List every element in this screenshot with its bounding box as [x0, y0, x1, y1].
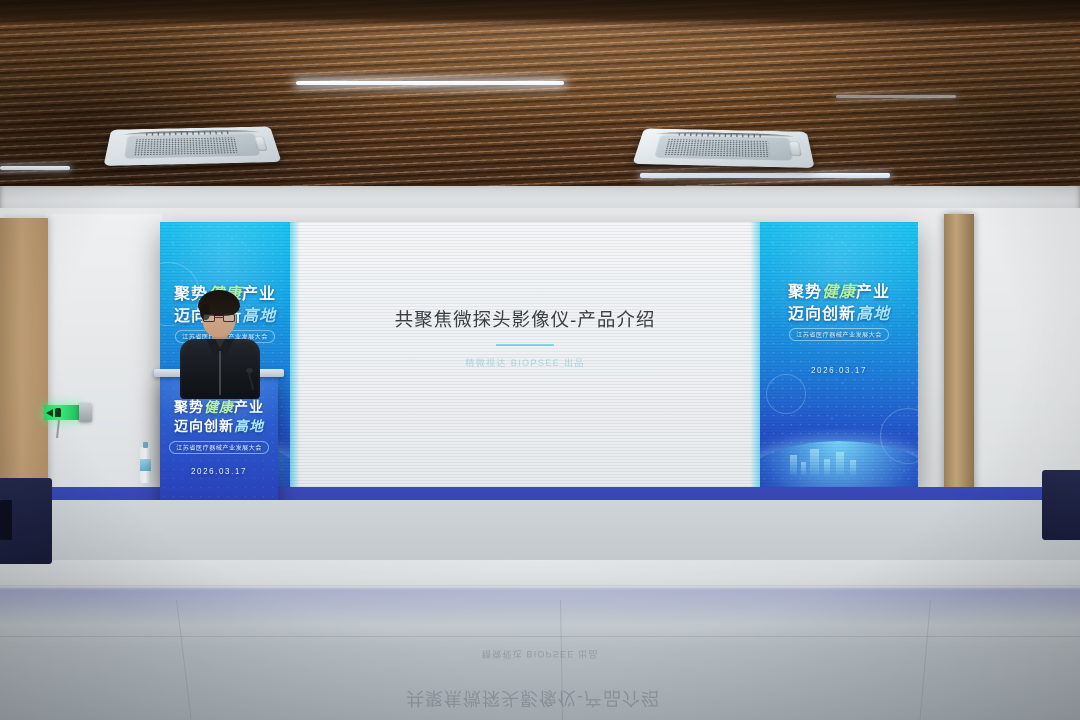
floor-tile-seam — [0, 585, 1080, 586]
glow-arc — [760, 441, 918, 487]
slide-left-gradient — [290, 222, 300, 487]
podium-banner-date: 2026.03.17 — [160, 467, 278, 476]
led-texture — [760, 222, 918, 487]
skyline-building — [836, 452, 844, 475]
slide-divider — [496, 344, 554, 346]
ac-cassette-unit-left — [103, 127, 281, 166]
ac-cassette-unit-right — [632, 128, 814, 168]
decor-ring — [880, 408, 918, 464]
conference-hall-photo: 聚势健康产业 迈向创新高地 江苏省医疗器械产业发展大会 2026.03.17 — [0, 0, 1080, 720]
skyline-building — [824, 459, 830, 475]
glasses-bridge — [215, 317, 223, 318]
led-right-banner-line2: 迈向创新高地 — [760, 300, 918, 324]
floor-reflected-subtitle: 精微视达 BIOPSEE 出品 — [482, 648, 599, 661]
ceiling-light-strip-3 — [0, 166, 70, 170]
glasses-left-lens — [203, 314, 215, 322]
slide-subtitle: 精微视达 BIOPSEE 出品 — [290, 356, 760, 369]
ceiling-light-strip-4 — [836, 95, 956, 98]
left-wood-wall-panel — [0, 218, 48, 510]
podium-banner-line2: 迈向创新高地 — [160, 416, 278, 436]
emergency-exit-sign — [44, 405, 80, 420]
floor-reflected-title: 共聚焦微探头影像仪-产品介绍 — [406, 686, 660, 712]
slide-right-gradient — [750, 222, 760, 487]
running-man-icon — [55, 408, 61, 417]
water-bottle — [140, 447, 151, 483]
presenter-glasses — [203, 314, 235, 322]
decor-ring — [766, 374, 806, 414]
foreground-dark-object-right — [1042, 470, 1080, 540]
right-wall-panel — [962, 208, 1080, 508]
floor-tile-seam — [0, 636, 1080, 637]
podium-banner-line1: 聚势健康产业 — [160, 397, 278, 417]
skyline-building — [810, 449, 819, 475]
wood-slat-ceiling — [0, 0, 1080, 196]
exit-arrow-icon — [46, 409, 53, 417]
led-right-banner-panel: 聚势健康产业 迈向创新高地 江苏省医疗器械产业发展大会 2026.03.17 — [760, 222, 918, 487]
skyline-building — [790, 455, 797, 475]
presentation-slide: 共聚焦微探头影像仪-产品介绍 精微视达 BIOPSEE 出品 — [290, 222, 760, 487]
led-right-skyline — [760, 429, 918, 487]
microphone-head — [246, 368, 253, 373]
foreground-dark-object-left — [0, 478, 52, 564]
presenter-jacket-zipper — [219, 351, 221, 395]
skyline-building — [801, 462, 806, 475]
bottle-label — [140, 459, 151, 471]
presenter-hair — [198, 290, 240, 316]
led-right-banner-pill: 江苏省医疗器械产业发展大会 — [760, 324, 918, 342]
ac-grille — [133, 137, 237, 156]
ceiling-light-strip-2 — [640, 173, 890, 178]
ac-grille — [663, 139, 769, 158]
skyline-building — [850, 460, 856, 475]
glasses-right-lens — [223, 314, 235, 322]
ceiling-top-shadow — [0, 0, 1080, 26]
right-wood-column — [944, 214, 974, 514]
led-right-banner-date: 2026.03.17 — [760, 366, 918, 375]
podium-banner-pill: 江苏省医疗器械产业发展大会 — [160, 437, 278, 455]
led-right-banner-line1: 聚势健康产业 — [760, 278, 918, 302]
exit-sign-glow — [44, 405, 80, 420]
slide-title: 共聚焦微探头影像仪-产品介绍 — [290, 306, 760, 332]
ceiling-light-strip-1 — [296, 81, 564, 85]
exit-sign-housing — [79, 403, 92, 422]
